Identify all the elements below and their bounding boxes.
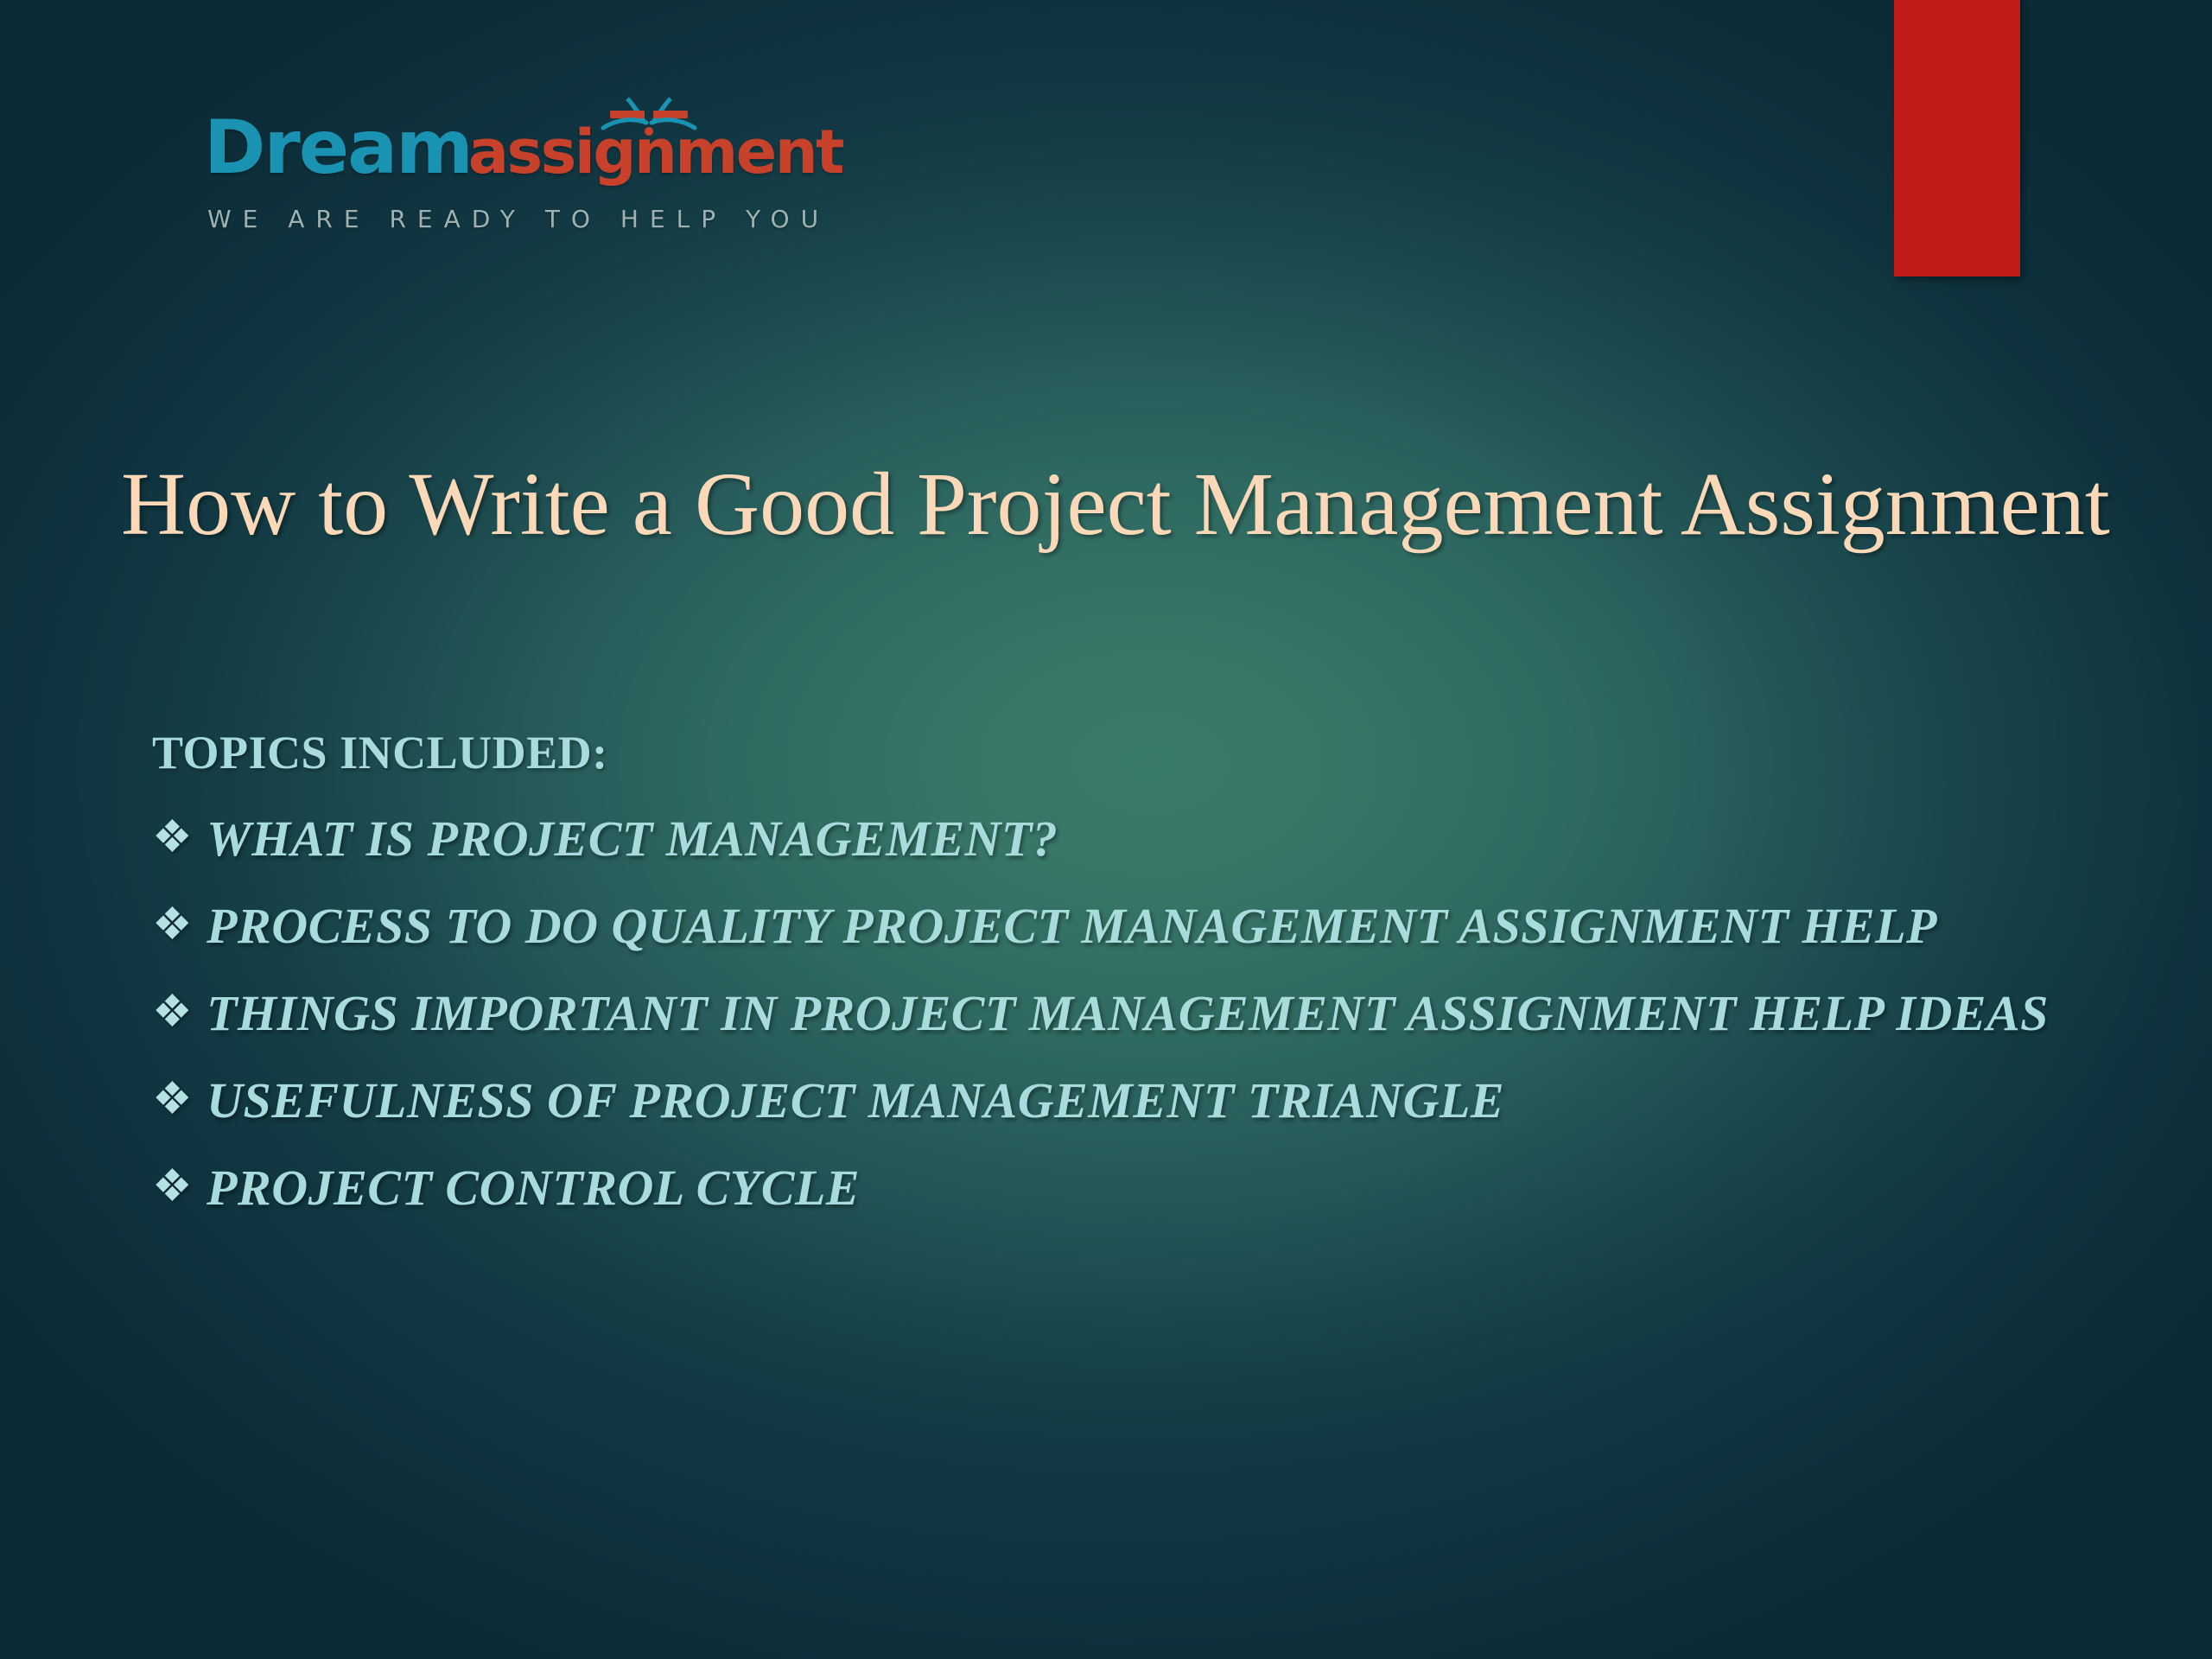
topics-section: TOPICS INCLUDED: ❖WHAT IS PROJECT MANAGE…: [152, 726, 2165, 1241]
butterfly-ornament-icon: [594, 93, 707, 147]
list-item-label: PROCESS TO DO QUALITY PROJECT MANAGEMENT…: [207, 898, 1937, 954]
diamond-bullet-icon: ❖: [152, 895, 193, 957]
brand-logo: Dreamassignment WE ARE READY TO HELP Y: [204, 111, 842, 232]
list-item: ❖THINGS IMPORTANT IN PROJECT MANAGEMENT …: [152, 980, 2165, 1048]
page-title: How to Write a Good Project Management A…: [121, 441, 2126, 569]
diamond-bullet-icon: ❖: [152, 982, 193, 1044]
list-item-label: PROJECT CONTROL CYCLE: [207, 1160, 860, 1216]
list-item-label: USEFULNESS OF PROJECT MANAGEMENT TRIANGL…: [207, 1072, 1504, 1128]
list-item: ❖USEFULNESS OF PROJECT MANAGEMENT TRIANG…: [152, 1067, 2165, 1135]
diamond-bullet-icon: ❖: [152, 808, 193, 869]
list-item: ❖PROCESS TO DO QUALITY PROJECT MANAGEMEN…: [152, 893, 2165, 961]
diamond-bullet-icon: ❖: [152, 1070, 193, 1131]
red-accent-block: [1894, 0, 2020, 276]
diamond-bullet-icon: ❖: [152, 1157, 193, 1218]
list-item: ❖PROJECT CONTROL CYCLE: [152, 1154, 2165, 1223]
logo-wordmark: Dreamassignment: [204, 111, 842, 190]
logo-dream-text: Dream: [204, 105, 472, 191]
list-item: ❖WHAT IS PROJECT MANAGEMENT?: [152, 805, 2165, 874]
logo-tagline: WE ARE READY TO HELP YOU: [207, 207, 842, 232]
list-item-label: WHAT IS PROJECT MANAGEMENT?: [207, 810, 1058, 867]
list-item-label: THINGS IMPORTANT IN PROJECT MANAGEMENT A…: [207, 985, 2049, 1041]
topics-list: ❖WHAT IS PROJECT MANAGEMENT? ❖PROCESS TO…: [152, 805, 2165, 1222]
presentation-slide: Dreamassignment WE ARE READY TO HELP Y: [0, 0, 2212, 1659]
topics-heading: TOPICS INCLUDED:: [152, 726, 2165, 779]
